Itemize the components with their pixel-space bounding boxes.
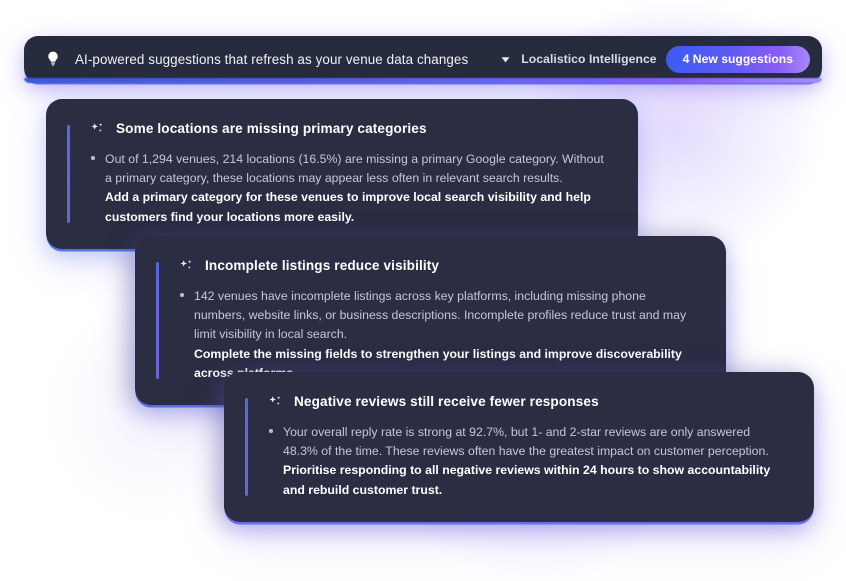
suggestion-card-1[interactable]: Some locations are missing primary categ… bbox=[46, 99, 638, 249]
bullet-dot bbox=[269, 429, 273, 433]
card-accent-bar bbox=[245, 398, 248, 496]
card-title: Some locations are missing primary categ… bbox=[116, 121, 427, 136]
card-body-text: 142 venues have incomplete listings acro… bbox=[194, 287, 700, 345]
ai-suggestions-header-bar: AI-powered suggestions that refresh as y… bbox=[24, 36, 822, 82]
card-body: Out of 1,294 venues, 214 locations (16.5… bbox=[90, 150, 612, 227]
card-body: 142 venues have incomplete listings acro… bbox=[179, 287, 700, 383]
card-body-text: Your overall reply rate is strong at 92.… bbox=[283, 423, 788, 461]
card-body-text: Out of 1,294 venues, 214 locations (16.5… bbox=[105, 150, 612, 188]
bullet-dot bbox=[180, 293, 184, 297]
card-header: Negative reviews still receive fewer res… bbox=[268, 394, 788, 409]
card-accent-bar bbox=[67, 125, 70, 223]
lightbulb-icon bbox=[44, 50, 62, 68]
new-suggestions-badge[interactable]: 4 New suggestions bbox=[666, 46, 810, 73]
card-header: Some locations are missing primary categ… bbox=[90, 121, 612, 136]
sparkle-icon bbox=[179, 258, 194, 273]
sparkle-icon bbox=[268, 394, 283, 409]
bullet-dot bbox=[91, 156, 95, 160]
suggestion-card-3[interactable]: Negative reviews still receive fewer res… bbox=[224, 372, 814, 522]
sparkle-icon bbox=[90, 121, 105, 136]
card-title: Negative reviews still receive fewer res… bbox=[294, 394, 599, 409]
card-action-text: Prioritise responding to all negative re… bbox=[283, 461, 788, 499]
brand-label[interactable]: Localistico Intelligence bbox=[521, 52, 656, 66]
header-right-group: Localistico Intelligence 4 New suggestio… bbox=[500, 46, 810, 73]
card-title: Incomplete listings reduce visibility bbox=[205, 258, 439, 273]
card-header: Incomplete listings reduce visibility bbox=[179, 258, 700, 273]
card-action-text: Add a primary category for these venues … bbox=[105, 188, 612, 226]
card-accent-bar bbox=[156, 262, 159, 379]
chevron-down-icon[interactable] bbox=[500, 54, 511, 65]
header-title: AI-powered suggestions that refresh as y… bbox=[75, 52, 468, 67]
card-body: Your overall reply rate is strong at 92.… bbox=[268, 423, 788, 500]
